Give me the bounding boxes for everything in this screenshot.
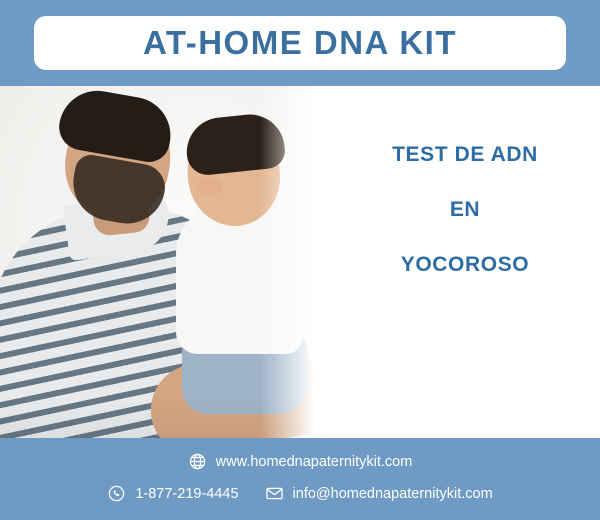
- header-banner: AT-HOME DNA KIT: [0, 0, 600, 86]
- headline-block: TEST DE ADN EN YOCOROSO: [330, 144, 600, 275]
- header-title-pill: AT-HOME DNA KIT: [34, 16, 566, 70]
- footer-website[interactable]: www.homednapaternitykit.com: [188, 452, 413, 471]
- footer-email[interactable]: info@homednapaternitykit.com: [265, 484, 493, 503]
- family-photo: [0, 86, 330, 438]
- envelope-icon: [265, 484, 284, 503]
- headline-line-2: EN: [330, 199, 600, 220]
- photo-right-fade: [260, 86, 330, 438]
- footer-phone-text: 1-877-219-4445: [135, 486, 238, 502]
- page-title: AT-HOME DNA KIT: [143, 24, 457, 62]
- footer-website-row: www.homednapaternitykit.com: [0, 452, 600, 471]
- headline-line-1: TEST DE ADN: [330, 144, 600, 165]
- main-content: TEST DE ADN EN YOCOROSO: [0, 86, 600, 438]
- globe-icon: [188, 452, 207, 471]
- footer-website-text: www.homednapaternitykit.com: [216, 454, 413, 470]
- footer-contact-row: 1-877-219-4445 info@homednapaternitykit.…: [0, 484, 600, 503]
- headline-line-3: YOCOROSO: [330, 254, 600, 275]
- poster: AT-HOME DNA KIT TEST DE ADN EN YOCOROS: [0, 0, 600, 520]
- footer-email-text: info@homednapaternitykit.com: [293, 486, 493, 502]
- footer-banner: www.homednapaternitykit.com 1-877-219-44…: [0, 438, 600, 520]
- footer-phone[interactable]: 1-877-219-4445: [107, 484, 238, 503]
- phone-icon: [107, 484, 126, 503]
- photo-child-cheek: [196, 178, 222, 196]
